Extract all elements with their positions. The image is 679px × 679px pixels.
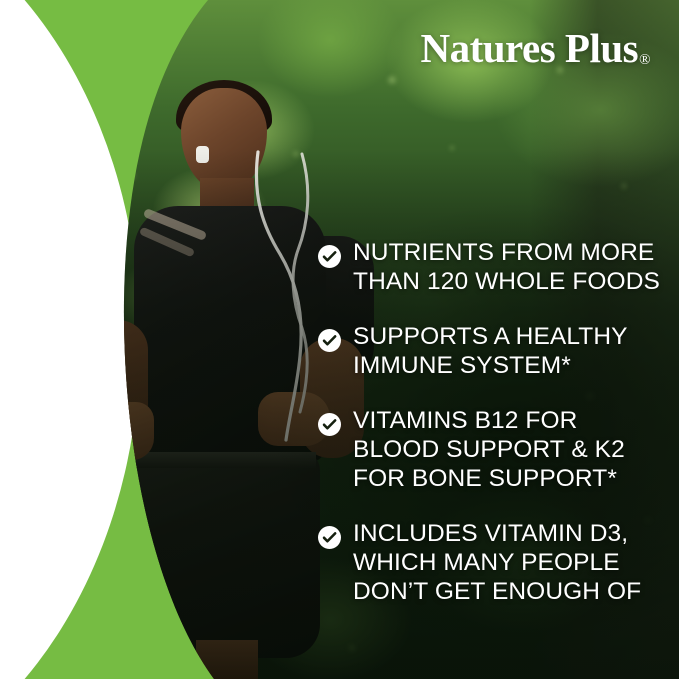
registered-trademark-icon: ® — [639, 52, 650, 68]
benefit-item: SUPPORTS A HEALTHY IMMUNE SYSTEM* — [318, 322, 670, 380]
brand-logo-text: Natures Plus — [420, 25, 638, 71]
brand-logo: Natures Plus® — [420, 28, 649, 69]
benefit-text: SUPPORTS A HEALTHY IMMUNE SYSTEM* — [353, 322, 628, 380]
check-circle-icon — [318, 526, 341, 549]
benefit-text: INCLUDES VITAMIN D3, WHICH MANY PEOPLE D… — [353, 519, 641, 606]
benefit-text: VITAMINS B12 FOR BLOOD SUPPORT & K2 FOR … — [353, 406, 625, 493]
product-benefits-promo-card: Natures Plus® NUTRIENTS FROM MORE THAN 1… — [0, 0, 679, 679]
check-circle-icon — [318, 329, 341, 352]
benefit-text: NUTRIENTS FROM MORE THAN 120 WHOLE FOODS — [353, 238, 660, 296]
benefit-item: NUTRIENTS FROM MORE THAN 120 WHOLE FOODS — [318, 238, 670, 296]
benefit-item: VITAMINS B12 FOR BLOOD SUPPORT & K2 FOR … — [318, 406, 670, 493]
check-circle-icon — [318, 413, 341, 436]
benefits-list: NUTRIENTS FROM MORE THAN 120 WHOLE FOODS… — [318, 238, 670, 606]
check-circle-icon — [318, 245, 341, 268]
benefit-item: INCLUDES VITAMIN D3, WHICH MANY PEOPLE D… — [318, 519, 670, 606]
